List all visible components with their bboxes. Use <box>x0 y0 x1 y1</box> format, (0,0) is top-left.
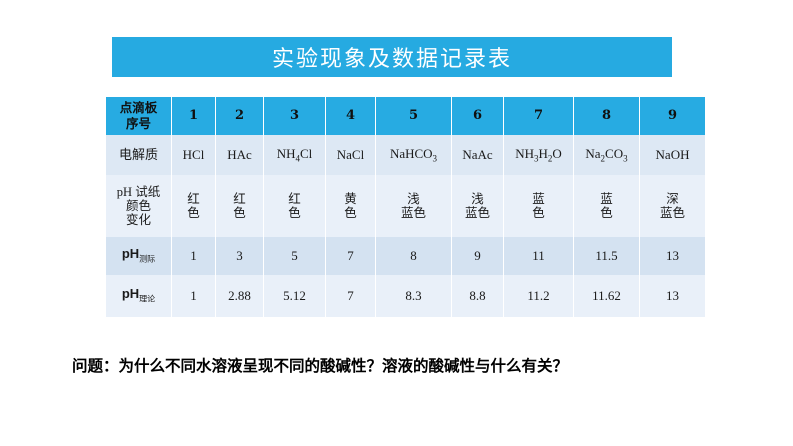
title-banner: 实验现象及数据记录表 <box>112 37 672 77</box>
table-row-ph-theory: pH理论 12.885.1278.38.811.211.6213 <box>106 275 706 317</box>
ph-paper-color-cell-col-2: 红色 <box>216 175 264 237</box>
ph-theory-cell-col-4: 7 <box>326 275 376 317</box>
row-label-ph-paper-line1: pH 试纸 <box>107 185 170 199</box>
ph-theory-cell-col-1: 1 <box>172 275 216 317</box>
table-row-ph-paper-color: pH 试纸 颜色 变化 红色红色红色黄色浅蓝色浅蓝色蓝色蓝色深蓝色 <box>106 175 706 237</box>
chemical-formula: HCl <box>183 147 205 162</box>
row-label-electrolyte: 电解质 <box>106 135 172 175</box>
chemical-formula: NaHCO3 <box>390 146 437 161</box>
ph-measured-cell-col-9: 13 <box>640 237 706 275</box>
question-text: 问题：为什么不同水溶液呈现不同的酸碱性？溶液的酸碱性与什么有关？ <box>72 354 568 376</box>
ph-measured-cell-col-5: 8 <box>376 237 452 275</box>
ph-measured-cell-col-8: 11.5 <box>574 237 640 275</box>
experiment-data-table-container: 点滴板 序号 123456789 电解质 HClHAcNH4ClNaClNaHC… <box>105 97 683 317</box>
electrolyte-cell-col-8: Na2CO3 <box>574 135 640 175</box>
row-label-ph-paper-line2: 颜色 <box>107 199 170 213</box>
chemical-formula: NaCl <box>337 147 364 162</box>
electrolyte-cell-col-9: NaOH <box>640 135 706 175</box>
header-cell-col-2: 2 <box>216 97 264 135</box>
header-cell-col-4: 4 <box>326 97 376 135</box>
electrolyte-cell-col-1: HCl <box>172 135 216 175</box>
ph-theory-base: pH <box>122 286 139 301</box>
ph-theory-label: pH理论 <box>122 286 155 301</box>
ph-theory-cell-col-9: 13 <box>640 275 706 317</box>
header-cell-col-9: 9 <box>640 97 706 135</box>
row-label-ph-paper: pH 试纸 颜色 变化 <box>106 175 172 237</box>
page-title: 实验现象及数据记录表 <box>272 41 512 73</box>
row-label-ph-paper-line3: 变化 <box>107 213 170 227</box>
electrolyte-cell-col-6: NaAc <box>452 135 504 175</box>
ph-measured-cell-col-1: 1 <box>172 237 216 275</box>
slide-root: { "title": { "text": "实验现象及数据记录表", "bann… <box>0 0 793 446</box>
ph-measured-cell-col-2: 3 <box>216 237 264 275</box>
electrolyte-cell-col-3: NH4Cl <box>264 135 326 175</box>
ph-measured-cell-col-6: 9 <box>452 237 504 275</box>
ph-measured-cell-col-3: 5 <box>264 237 326 275</box>
header-cell-col-8: 8 <box>574 97 640 135</box>
ph-measured-cell-col-7: 11 <box>504 237 574 275</box>
ph-theory-cell-col-8: 11.62 <box>574 275 640 317</box>
header-cell-col-5: 5 <box>376 97 452 135</box>
electrolyte-cell-col-7: NH3H2O <box>504 135 574 175</box>
table-row-header: 点滴板 序号 123456789 <box>106 97 706 135</box>
chemical-formula: NaOH <box>656 147 690 162</box>
ph-measured-base: pH <box>122 246 139 261</box>
ph-theory-cell-col-2: 2.88 <box>216 275 264 317</box>
table-row-ph-measured: pH测际 1357891111.513 <box>106 237 706 275</box>
header-cell-col-7: 7 <box>504 97 574 135</box>
header-cell-col-3: 3 <box>264 97 326 135</box>
electrolyte-cell-col-2: HAc <box>216 135 264 175</box>
ph-paper-color-cell-col-5: 浅蓝色 <box>376 175 452 237</box>
chemical-formula: NH3H2O <box>515 146 562 161</box>
row-label-ph-measured: pH测际 <box>106 237 172 275</box>
chemical-formula: NH4Cl <box>277 146 313 161</box>
ph-paper-color-cell-col-4: 黄色 <box>326 175 376 237</box>
experiment-data-table: 点滴板 序号 123456789 电解质 HClHAcNH4ClNaClNaHC… <box>105 97 706 317</box>
ph-theory-cell-col-6: 8.8 <box>452 275 504 317</box>
chemical-formula: Na2CO3 <box>585 146 627 161</box>
ph-paper-color-cell-col-1: 红色 <box>172 175 216 237</box>
ph-theory-cell-col-7: 11.2 <box>504 275 574 317</box>
row-label-ph-theory: pH理论 <box>106 275 172 317</box>
ph-paper-color-cell-col-9: 深蓝色 <box>640 175 706 237</box>
chemical-formula: NaAc <box>462 147 492 162</box>
ph-paper-color-cell-col-6: 浅蓝色 <box>452 175 504 237</box>
header-cell-col-6: 6 <box>452 97 504 135</box>
chemical-formula: HAc <box>227 147 252 162</box>
row-label-index-line2: 序号 <box>107 116 170 132</box>
ph-measured-label: pH测际 <box>122 246 155 261</box>
row-label-index-line1: 点滴板 <box>107 100 170 116</box>
ph-theory-subscript: 理论 <box>139 295 155 304</box>
row-label-index: 点滴板 序号 <box>106 97 172 135</box>
electrolyte-cell-col-5: NaHCO3 <box>376 135 452 175</box>
ph-measured-cell-col-4: 7 <box>326 237 376 275</box>
header-cell-col-1: 1 <box>172 97 216 135</box>
table-row-electrolyte: 电解质 HClHAcNH4ClNaClNaHCO3NaAcNH3H2ONa2CO… <box>106 135 706 175</box>
ph-paper-color-cell-col-3: 红色 <box>264 175 326 237</box>
electrolyte-cell-col-4: NaCl <box>326 135 376 175</box>
ph-measured-subscript: 测际 <box>139 255 155 264</box>
ph-theory-cell-col-3: 5.12 <box>264 275 326 317</box>
ph-paper-color-cell-col-8: 蓝色 <box>574 175 640 237</box>
ph-theory-cell-col-5: 8.3 <box>376 275 452 317</box>
ph-paper-color-cell-col-7: 蓝色 <box>504 175 574 237</box>
